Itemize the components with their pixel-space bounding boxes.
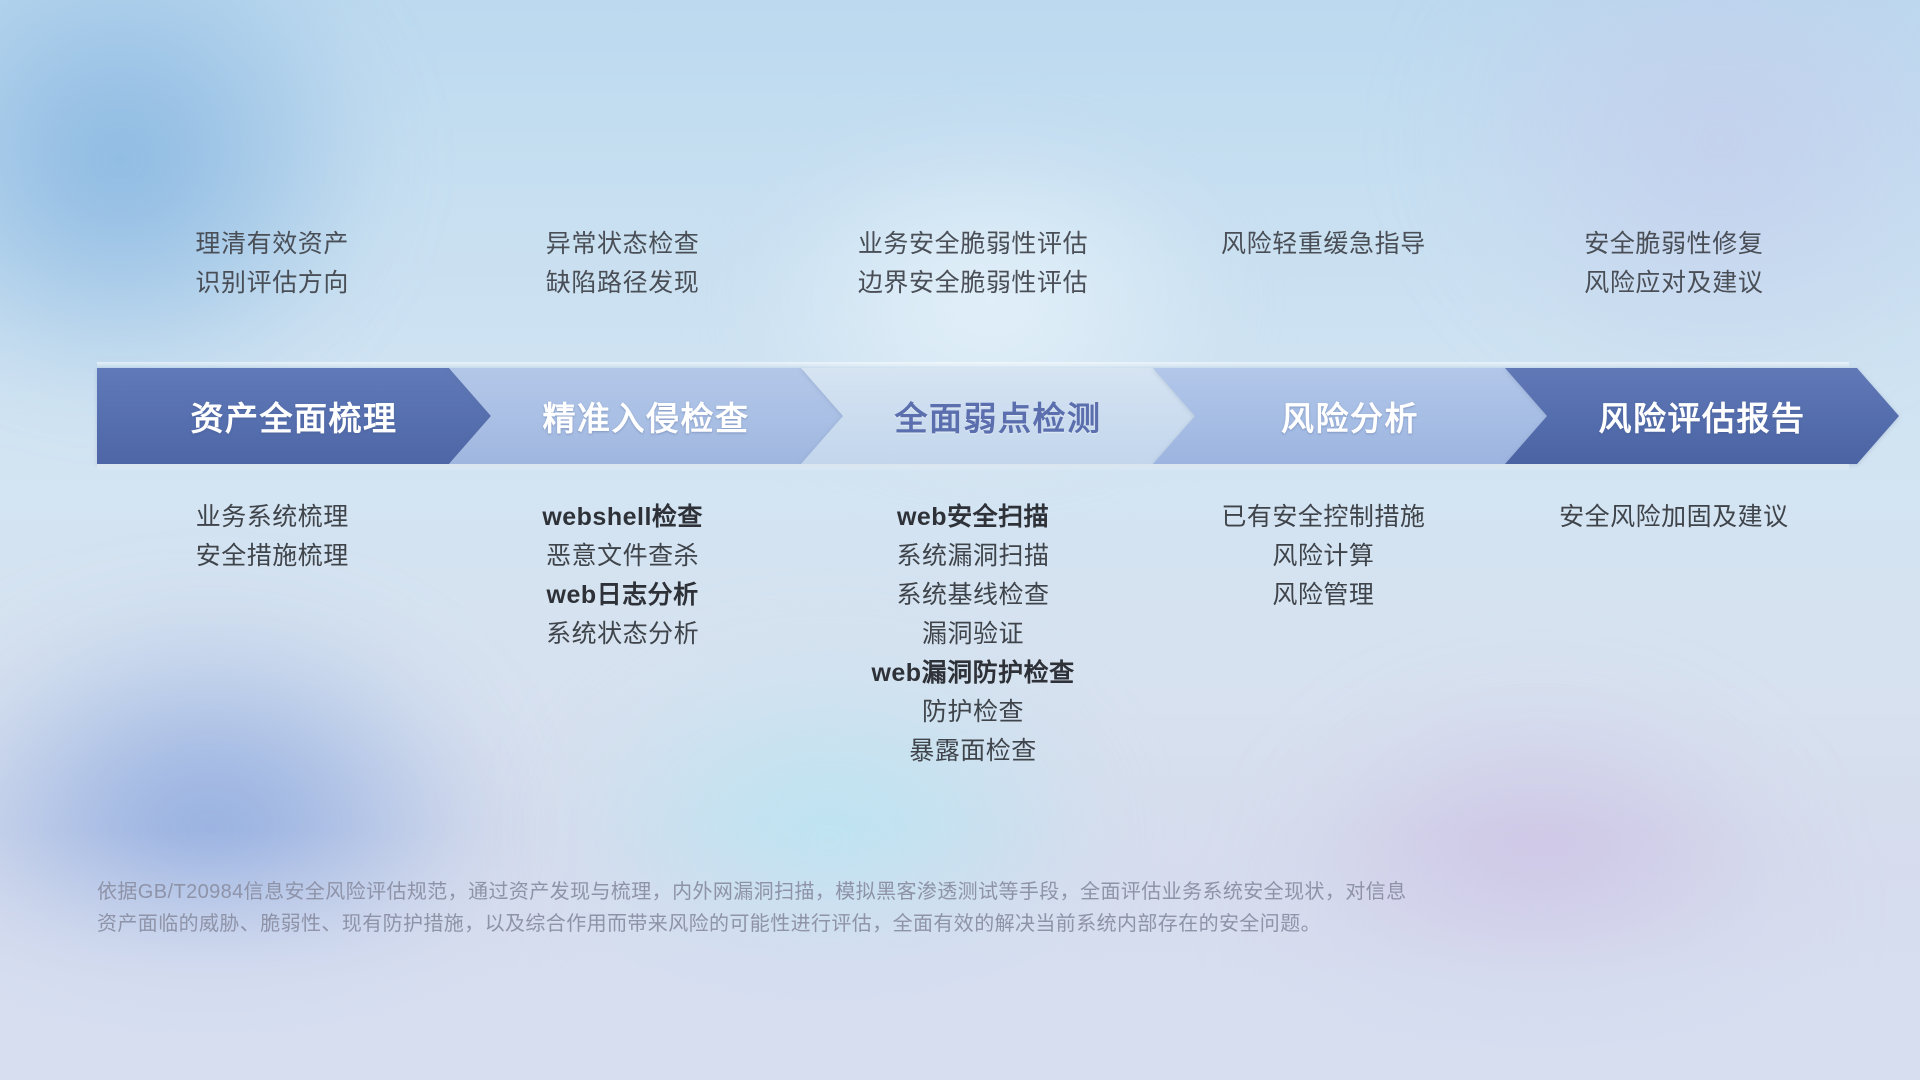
footer-line-2: 资产面临的威胁、脆弱性、现有防护措施，以及综合作用而带来风险的可能性进行评估，全… <box>97 908 1617 940</box>
top-column-weakness-detection: 业务安全脆弱性评估 边界安全脆弱性评估 <box>798 232 1148 340</box>
bottom-item: 风险管理 <box>1272 583 1374 608</box>
footer-line-1: 依据GB/T20984信息安全风险评估规范，通过资产发现与梳理，内外网漏洞扫描，… <box>97 876 1617 908</box>
top-column-risk-report: 安全脆弱性修复 风险应对及建议 <box>1499 232 1849 340</box>
bottom-item: 恶意文件查杀 <box>546 544 699 569</box>
top-column-asset-inventory: 理清有效资产 识别评估方向 <box>97 232 447 340</box>
bottom-item: 业务系统梳理 <box>196 505 349 530</box>
bottom-column-asset-inventory: 业务系统梳理 安全措施梳理 <box>97 505 447 569</box>
bottom-item: 系统漏洞扫描 <box>897 544 1050 569</box>
top-item: 识别评估方向 <box>195 271 349 296</box>
stage-arrow-risk-analysis[interactable]: 风险分析 <box>1153 368 1547 464</box>
bottom-item: web漏洞防护检查 <box>871 661 1074 686</box>
bottom-item: 暴露面检查 <box>909 739 1037 764</box>
footer-note: 依据GB/T20984信息安全风险评估规范，通过资产发现与梳理，内外网漏洞扫描，… <box>97 876 1617 940</box>
stage-label: 风险评估报告 <box>1599 392 1806 440</box>
stage-label: 风险分析 <box>1281 392 1419 440</box>
bottom-item: 已有安全控制措施 <box>1221 505 1425 530</box>
bottom-item: 安全风险加固及建议 <box>1559 505 1789 530</box>
bottom-item: 漏洞验证 <box>922 622 1024 647</box>
top-item: 风险应对及建议 <box>1584 271 1763 296</box>
top-column-risk-analysis: 风险轻重缓急指导 <box>1148 232 1498 340</box>
stage-label: 全面弱点检测 <box>895 392 1102 440</box>
bottom-item: web安全扫描 <box>897 505 1049 530</box>
stage-arrow-risk-report[interactable]: 风险评估报告 <box>1505 368 1899 464</box>
top-item: 理清有效资产 <box>195 232 349 257</box>
stage-arrow-intrusion-check[interactable]: 精准入侵检查 <box>449 368 843 464</box>
bottom-item: 风险计算 <box>1272 544 1374 569</box>
stage-arrow-banner: 资产全面梳理 精准入侵检查 全面弱点检测 风险分析 风险评估报告 <box>97 368 1849 464</box>
bottom-item: 系统状态分析 <box>546 622 699 647</box>
top-column-intrusion-check: 异常状态检查 缺陷路径发现 <box>447 232 797 340</box>
stage-arrow-asset-inventory[interactable]: 资产全面梳理 <box>97 368 491 464</box>
top-item: 风险轻重缓急指导 <box>1221 232 1426 257</box>
stage-label: 精准入侵检查 <box>543 392 750 440</box>
bottom-item: 安全措施梳理 <box>196 544 349 569</box>
bottom-item: 系统基线检查 <box>897 583 1050 608</box>
bottom-label-row: 业务系统梳理 安全措施梳理 webshell检查 恶意文件查杀 web日志分析 … <box>97 505 1849 764</box>
stage-arrow-weakness-detection[interactable]: 全面弱点检测 <box>801 368 1195 464</box>
bottom-column-risk-analysis: 已有安全控制措施 风险计算 风险管理 <box>1148 505 1498 608</box>
bottom-item: webshell检查 <box>542 505 703 530</box>
bottom-item: 防护检查 <box>922 700 1024 725</box>
process-diagram: 理清有效资产 识别评估方向 异常状态检查 缺陷路径发现 业务安全脆弱性评估 边界… <box>0 0 1920 1080</box>
bottom-item: web日志分析 <box>547 583 699 608</box>
banner-bottom-edge <box>97 464 1849 471</box>
top-item: 边界安全脆弱性评估 <box>858 271 1088 296</box>
top-item: 异常状态检查 <box>546 232 700 257</box>
bottom-column-risk-report: 安全风险加固及建议 <box>1499 505 1849 530</box>
bottom-column-weakness-detection: web安全扫描 系统漏洞扫描 系统基线检查 漏洞验证 web漏洞防护检查 防护检… <box>798 505 1148 764</box>
top-item: 业务安全脆弱性评估 <box>858 232 1088 257</box>
top-item: 缺陷路径发现 <box>546 271 700 296</box>
top-item: 安全脆弱性修复 <box>1584 232 1763 257</box>
stage-label: 资产全面梳理 <box>191 392 398 440</box>
bottom-column-intrusion-check: webshell检查 恶意文件查杀 web日志分析 系统状态分析 <box>447 505 797 647</box>
top-label-row: 理清有效资产 识别评估方向 异常状态检查 缺陷路径发现 业务安全脆弱性评估 边界… <box>97 232 1849 340</box>
